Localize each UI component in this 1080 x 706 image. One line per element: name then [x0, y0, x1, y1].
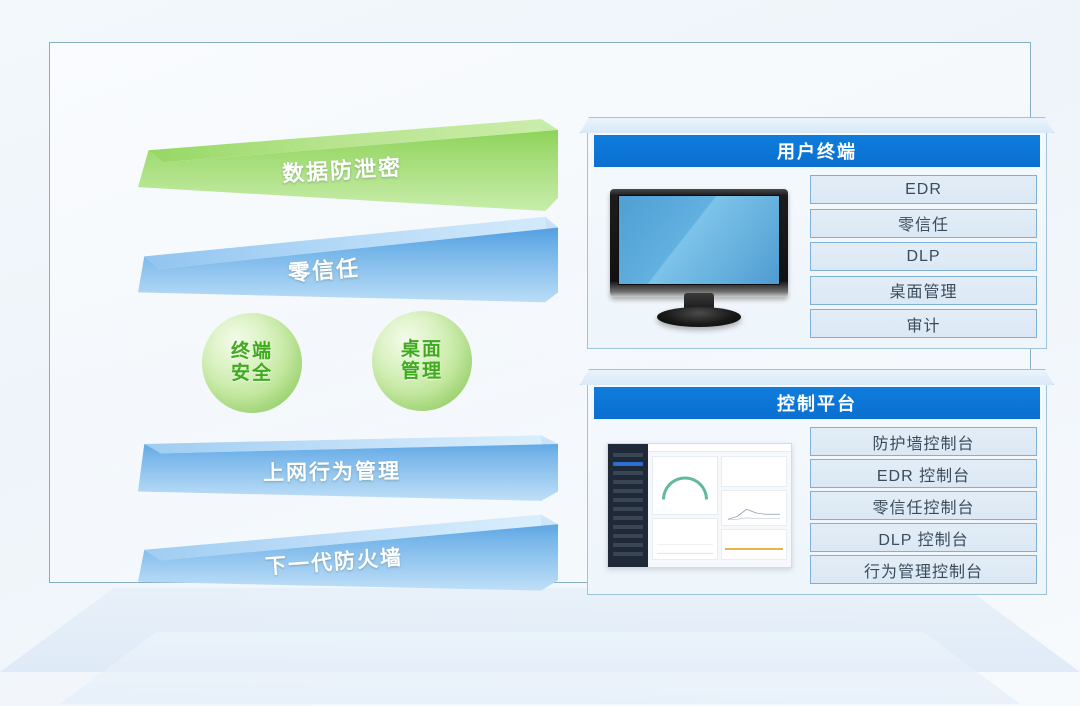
mini-line-chart	[726, 505, 782, 521]
dashboard-stat-card	[721, 456, 787, 487]
sidebar-entry	[613, 498, 643, 502]
list-item[interactable]: EDR	[810, 175, 1037, 204]
dashboard-main	[648, 444, 791, 567]
sidebar-entry	[613, 516, 643, 520]
dashboard-column-right	[721, 456, 787, 560]
monitor-screen	[618, 195, 780, 285]
dashboard-gauge-card	[652, 456, 718, 515]
capability-bar-zero-trust[interactable]: 零信任	[138, 215, 558, 305]
panel-top-lip	[580, 117, 1054, 133]
sphere-label-line1: 终端	[231, 341, 273, 363]
panel-visual-dashboard	[594, 425, 804, 586]
capability-bar-label: 上网行为管理	[263, 455, 401, 487]
list-item[interactable]: 审计	[810, 309, 1037, 338]
panel-title: 用户终端	[777, 138, 857, 164]
panel-user-terminal: 用户终端 EDR 零信任 DLP 桌面管理 审计	[587, 129, 1047, 349]
panel-list-user-terminal: EDR 零信任 DLP 桌面管理 审计	[804, 173, 1040, 340]
sphere-label-line2: 安全	[231, 363, 273, 385]
panel-list-control-platform: 防护墙控制台 EDR 控制台 零信任控制台 DLP 控制台 行为管理控制台	[804, 425, 1040, 586]
sidebar-entry-active	[613, 462, 643, 466]
list-item[interactable]: 桌面管理	[810, 276, 1037, 305]
gauge-chart	[662, 477, 708, 500]
list-item[interactable]: EDR 控制台	[810, 459, 1037, 488]
dashboard-screenshot	[607, 443, 792, 568]
capability-bar-label: 零信任	[287, 250, 361, 287]
panel-body: 防护墙控制台 EDR 控制台 零信任控制台 DLP 控制台 行为管理控制台	[594, 425, 1040, 586]
panel-body: EDR 零信任 DLP 桌面管理 审计	[594, 173, 1040, 340]
sidebar-entry	[613, 552, 643, 556]
dashboard-topbar	[648, 444, 791, 452]
sidebar-entry	[613, 534, 643, 538]
panel-top-lip	[580, 369, 1054, 385]
list-item[interactable]: 防护墙控制台	[810, 427, 1037, 456]
dashboard-legend-card	[721, 529, 787, 560]
panel-header-user-terminal: 用户终端	[594, 135, 1040, 167]
dashboard-column-left	[652, 456, 718, 560]
sidebar-entry	[613, 480, 643, 484]
sphere-label-line2: 管理	[401, 361, 443, 383]
list-item[interactable]: DLP 控制台	[810, 523, 1037, 552]
panel-visual-monitor	[594, 173, 804, 340]
capability-bar-next-gen-firewall[interactable]: 下一代防火墙	[138, 513, 558, 593]
base-platform-lower	[0, 632, 1080, 704]
sidebar-entry	[613, 543, 643, 547]
desktop-monitor-icon	[604, 187, 794, 327]
sidebar-entry	[613, 489, 643, 493]
capability-bar-web-behavior-management[interactable]: 上网行为管理	[138, 431, 558, 503]
capability-sphere-endpoint-security[interactable]: 终端 安全	[202, 313, 302, 413]
list-item[interactable]: 零信任	[810, 209, 1037, 238]
list-item[interactable]: 零信任控制台	[810, 491, 1037, 520]
panel-title: 控制平台	[777, 390, 857, 416]
list-item[interactable]: DLP	[810, 242, 1037, 271]
mini-line-svg	[726, 505, 782, 521]
capability-bar-data-leak-prevention[interactable]: 数据防泄密	[138, 119, 558, 211]
capability-sphere-desktop-management[interactable]: 桌面 管理	[372, 311, 472, 411]
dashboard-sidebar	[608, 444, 648, 567]
sphere-label-line1: 桌面	[401, 339, 443, 361]
monitor-base	[657, 307, 741, 327]
mini-bar-svg	[657, 535, 713, 554]
panel-control-platform: 控制平台	[587, 381, 1047, 595]
diagram-frame: 数据防泄密 零信任 终端 安全 桌面 管理 上网行为管理 下一代防火墙 用户终端	[49, 42, 1031, 583]
sidebar-entry	[613, 471, 643, 475]
sidebar-entry	[613, 453, 643, 457]
mini-bar-chart	[657, 535, 713, 554]
dashboard-line-card	[721, 490, 787, 527]
dashboard-columns	[652, 456, 787, 560]
sidebar-entry	[613, 525, 643, 529]
dashboard-bar-card	[652, 518, 718, 560]
capability-bar-label: 数据防泄密	[281, 150, 403, 189]
list-item[interactable]: 行为管理控制台	[810, 555, 1037, 584]
panel-header-control-platform: 控制平台	[594, 387, 1040, 419]
monitor-bezel	[610, 189, 788, 297]
sidebar-entry	[613, 507, 643, 511]
